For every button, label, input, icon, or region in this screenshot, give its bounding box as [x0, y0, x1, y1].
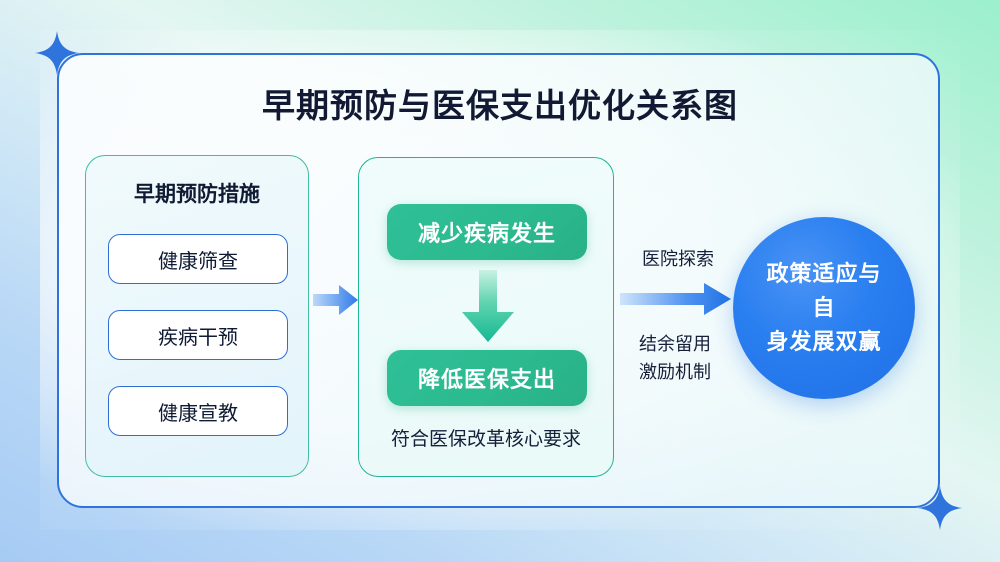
page-title: 早期预防与医保支出优化关系图	[0, 79, 1000, 127]
connector-label-above: 医院探索	[622, 245, 734, 271]
outcome-circle[interactable]: 政策适应与自 身发展双赢	[733, 217, 915, 399]
reduce-expenditure-box[interactable]: 降低医保支出	[387, 350, 587, 406]
measure-item[interactable]: 疾病干预	[108, 310, 288, 360]
panel-caption: 符合医保改革核心要求	[359, 424, 613, 451]
reduce-disease-box[interactable]: 减少疾病发生	[387, 204, 587, 260]
measure-item[interactable]: 健康筛查	[108, 234, 288, 284]
arrow-right-icon	[313, 283, 359, 317]
panel-heading: 早期预防措施	[86, 178, 308, 208]
measure-item[interactable]: 健康宣教	[108, 386, 288, 436]
diagram-canvas: 早期预防与医保支出优化关系图 早期预防措施 健康筛查 疾病干预 健康宣教 减少疾…	[0, 0, 1000, 562]
arrow-right-icon	[620, 280, 732, 318]
connector-label-below-line2: 激励机制	[615, 358, 735, 386]
connector-label-below-line1: 结余留用	[615, 330, 735, 358]
arrow-down-icon	[457, 270, 519, 344]
prevention-measures-panel: 早期预防措施 健康筛查 疾病干预 健康宣教	[85, 155, 309, 477]
outcome-line-1: 政策适应与自	[756, 257, 892, 325]
outcome-line-2: 身发展双赢	[756, 325, 892, 359]
connector-label-below: 结余留用 激励机制	[615, 330, 735, 386]
outcome-circle-text: 政策适应与自 身发展双赢	[756, 257, 892, 359]
outcome-chain-panel: 减少疾病发生 降低医保支出 符合医保改革核心要求	[358, 157, 614, 477]
